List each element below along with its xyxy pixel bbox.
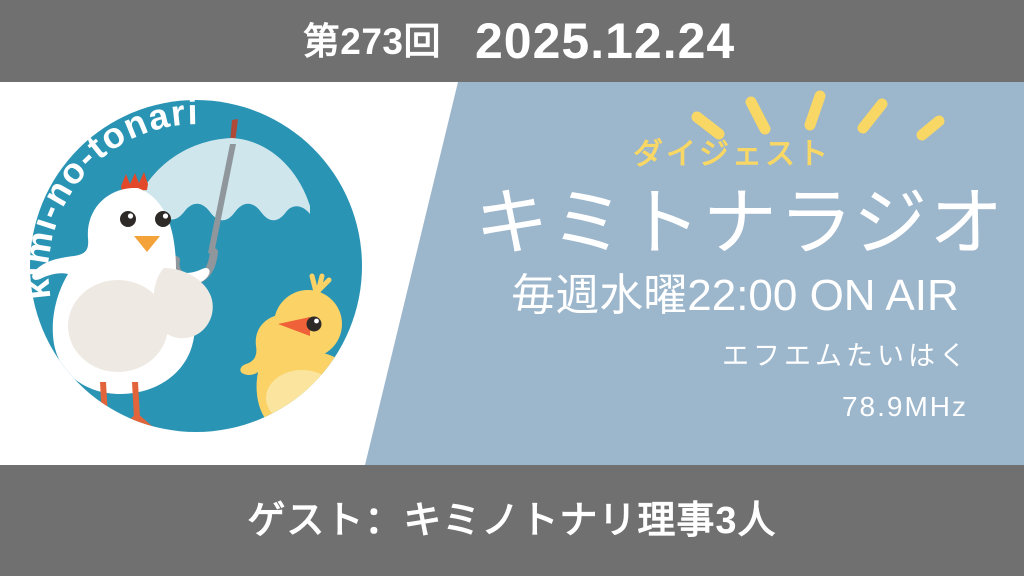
main-stage: kimi-no-tonari ダイジェスト キミトナラジオ — [0, 82, 1024, 465]
program-info-block: ダイジェスト キミトナラジオ 毎週水曜22:00 ON AIR エフエムたいはく… — [470, 82, 1024, 465]
station-frequency: 78.9MHz — [842, 393, 968, 421]
station-name: エフエムたいはく — [722, 343, 970, 370]
onair-schedule: 毎週水曜22:00 ON AIR — [470, 274, 1000, 318]
video-thumbnail: 第273回 2025.12.24 — [0, 0, 1024, 576]
guest-line: ゲスト：キミノトナリ理事3人 — [247, 502, 776, 540]
kimi-no-tonari-logo: kimi-no-tonari — [16, 86, 376, 446]
episode-number: 第273回 — [303, 23, 441, 60]
digest-badge-label: ダイジェスト — [470, 140, 994, 170]
air-date: 2025.12.24 — [475, 16, 735, 66]
footer-bar: ゲスト：キミノトナリ理事3人 — [0, 465, 1024, 576]
header-bar: 第273回 2025.12.24 — [0, 0, 1024, 82]
program-title: キミトナラジオ — [470, 186, 1010, 260]
